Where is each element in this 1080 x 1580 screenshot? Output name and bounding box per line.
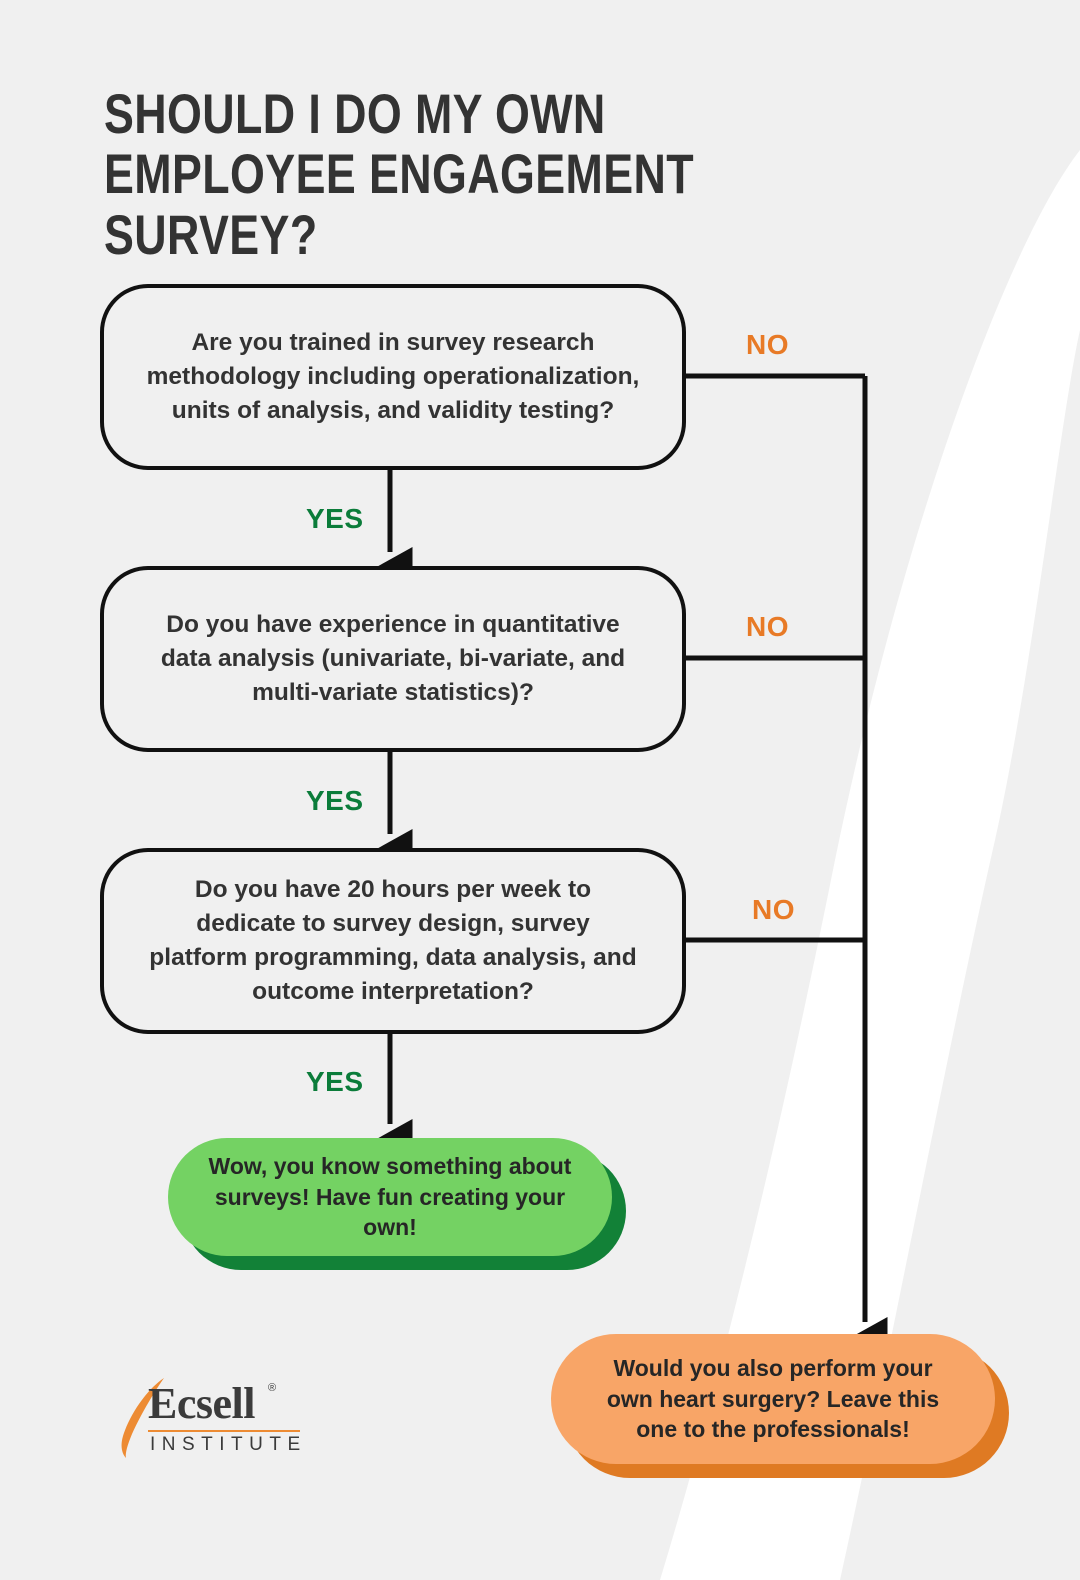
branch-label-yes-q3: YES: [306, 1066, 364, 1098]
outcome-pill-orange: Would you also perform your own heart su…: [551, 1334, 995, 1464]
logo-divider-rule: [148, 1430, 300, 1432]
decision-box-q3: Do you have 20 hours per week to dedicat…: [100, 848, 686, 1034]
ecsell-institute-logo: Ecsell ® INSTITUTE: [120, 1376, 300, 1460]
branch-label-yes-q1: YES: [306, 503, 364, 535]
branch-label-yes-q2: YES: [306, 785, 364, 817]
decision-box-q1: Are you trained in survey research metho…: [100, 284, 686, 470]
decision-box-q2: Do you have experience in quantitative d…: [100, 566, 686, 752]
outcome-orange-label: Would you also perform your own heart su…: [551, 1334, 995, 1464]
branch-label-no-q2: NO: [746, 611, 789, 643]
branch-label-no-q1: NO: [746, 329, 789, 361]
page-title: SHOULD I DO MY OWN EMPLOYEE ENGAGEMENT S…: [104, 84, 728, 265]
outcome-pill-green: Wow, you know something about surveys! H…: [168, 1138, 612, 1256]
registered-trademark-icon: ®: [268, 1382, 276, 1394]
logo-subtitle: INSTITUTE: [150, 1434, 307, 1456]
branch-label-no-q3: NO: [752, 894, 795, 926]
outcome-green-label: Wow, you know something about surveys! H…: [168, 1138, 612, 1256]
logo-wordmark: Ecsell: [148, 1378, 255, 1429]
infographic-poster: SHOULD I DO MY OWN EMPLOYEE ENGAGEMENT S…: [0, 0, 1080, 1580]
